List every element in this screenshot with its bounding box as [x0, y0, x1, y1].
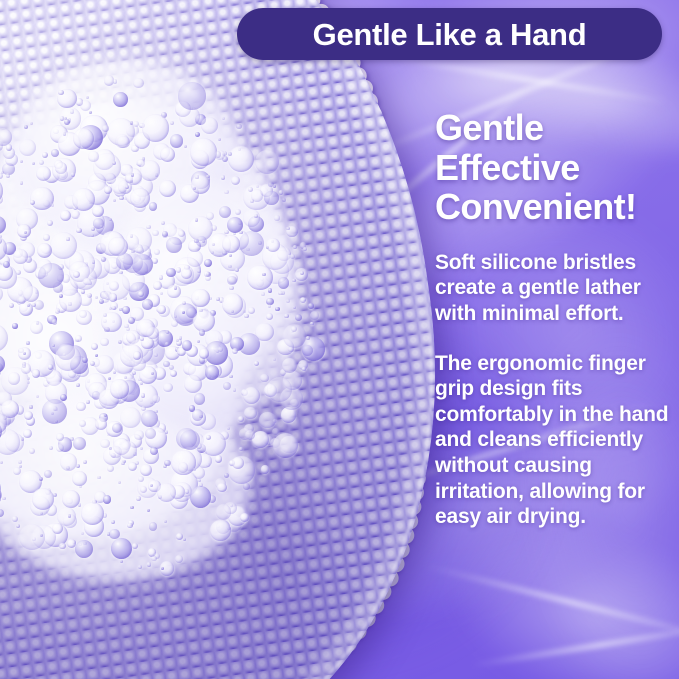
headline-banner: Gentle Like a Hand [237, 8, 662, 60]
headline-line-1: Gentle [435, 108, 673, 148]
body-paragraph-1: Soft silicone bristles create a gentle l… [435, 250, 673, 327]
headline-block: Gentle Effective Convenient! [435, 108, 673, 227]
scrubber-pad [0, 0, 490, 679]
headline-line-3: Convenient! [435, 187, 673, 227]
body-paragraph-2: The ergonomic finger grip design fits co… [435, 351, 673, 530]
banner-title: Gentle Like a Hand [313, 19, 587, 50]
copy-column: Gentle Effective Convenient! Soft silico… [435, 108, 673, 530]
headline-line-2: Effective [435, 148, 673, 188]
pad-rim-edge [0, 0, 487, 679]
product-feature-image: Gentle Like a Hand Gentle Effective Conv… [0, 0, 679, 679]
caustic-filament [391, 56, 668, 104]
silicone-scrubber-product [0, 0, 490, 679]
caustic-filament [471, 623, 679, 668]
